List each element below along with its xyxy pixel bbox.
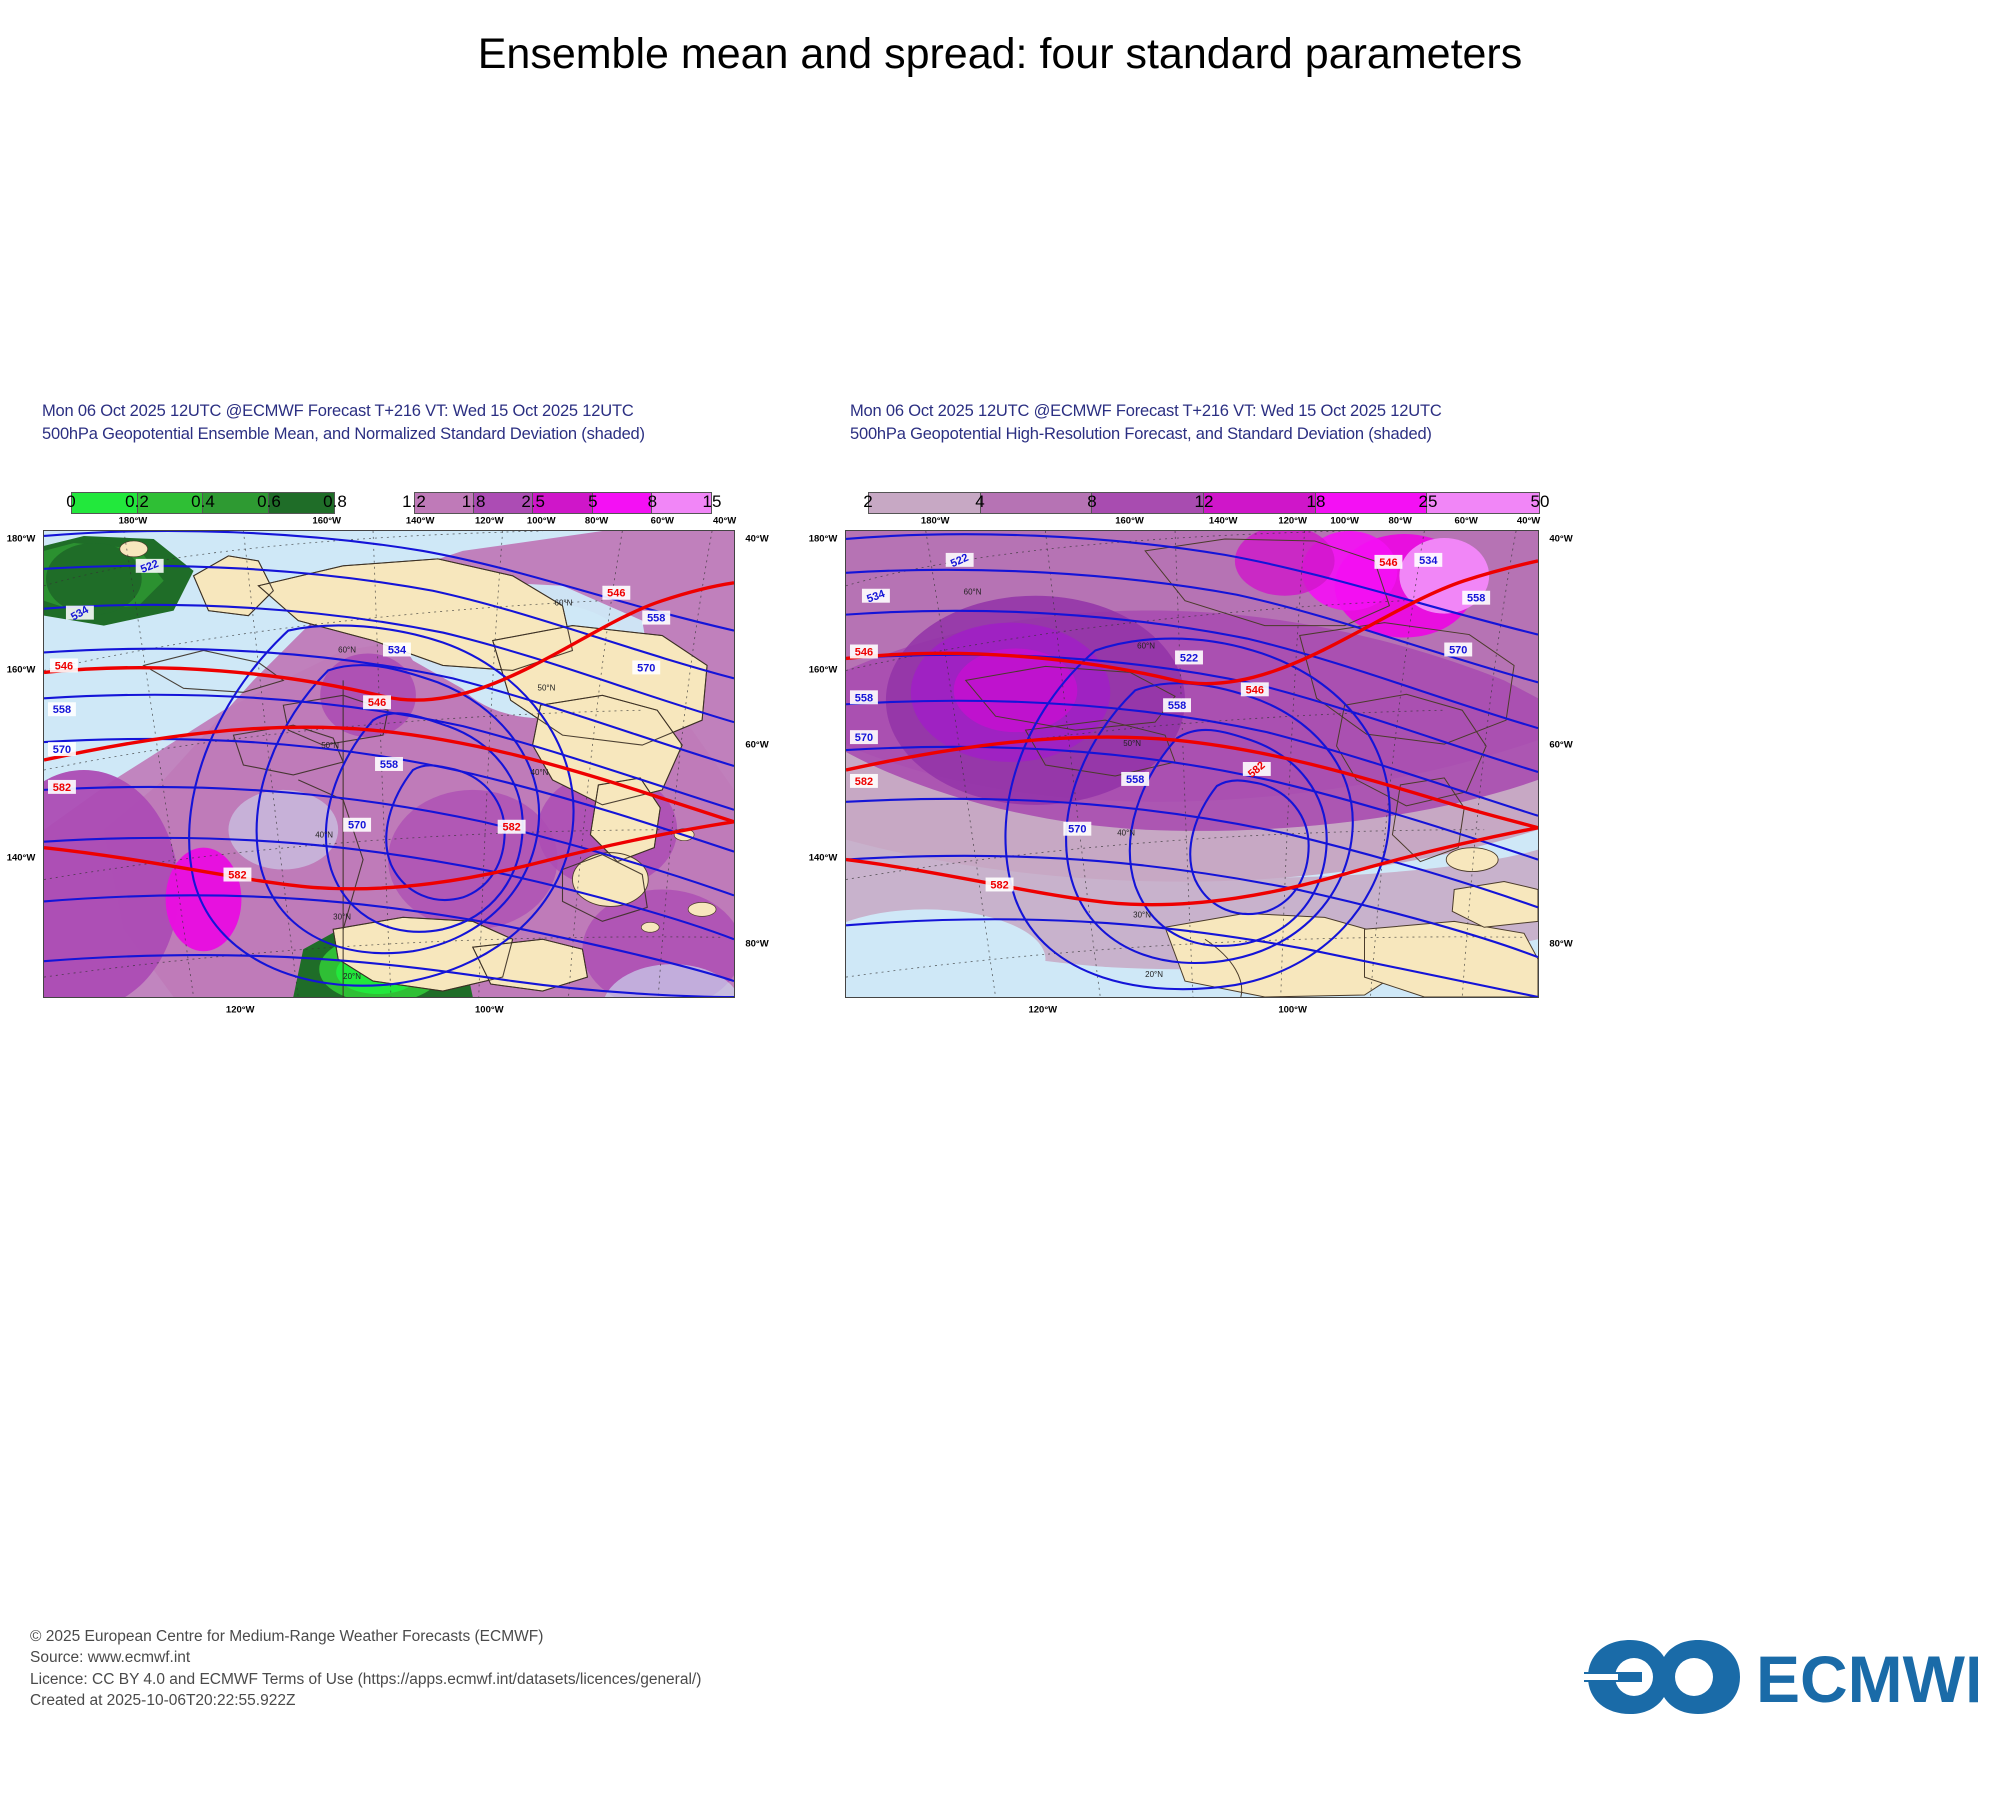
page-title: Ensemble mean and spread: four standard … xyxy=(0,30,2000,79)
svg-text:40°N: 40°N xyxy=(1117,829,1135,838)
svg-text:30°N: 30°N xyxy=(333,912,351,921)
svg-text:570: 570 xyxy=(855,732,873,744)
svg-text:30°N: 30°N xyxy=(1133,910,1151,919)
svg-text:570: 570 xyxy=(348,820,366,832)
svg-text:582: 582 xyxy=(990,879,1008,891)
svg-text:558: 558 xyxy=(1168,700,1186,712)
axis-right-label: 60°W xyxy=(1549,740,1572,751)
axis-bottom-label: 100°W xyxy=(475,1005,504,1016)
svg-text:558: 558 xyxy=(380,759,398,771)
map-left-svg: 522 534 546 558 xyxy=(44,531,734,997)
svg-text:558: 558 xyxy=(647,613,665,625)
colorbar-tick-label: 50 xyxy=(1531,492,1550,512)
svg-text:546: 546 xyxy=(1246,684,1264,696)
svg-text:582: 582 xyxy=(502,822,520,834)
svg-text:50°N: 50°N xyxy=(1123,739,1141,748)
svg-text:558: 558 xyxy=(1126,774,1144,786)
axis-top-label: 60°W xyxy=(1454,516,1477,527)
svg-text:570: 570 xyxy=(53,744,71,756)
axis-bottom-label: 120°W xyxy=(226,1005,255,1016)
svg-text:582: 582 xyxy=(855,776,873,788)
ecmwf-logo-text: ECMWF xyxy=(1756,1642,1978,1716)
axis-top-label: 140°W xyxy=(1209,516,1238,527)
colorbar-tick-label: 2 xyxy=(863,492,872,512)
axis-right-label: 40°W xyxy=(745,534,768,545)
axis-left-label: 180°W xyxy=(809,534,838,545)
colorbar-tick-label: 8 xyxy=(1087,492,1096,512)
svg-text:40°N: 40°N xyxy=(315,831,333,840)
colorbar-std-dev-shaded: 24812182550 xyxy=(0,470,2000,520)
panel-hres-forecast: Mon 06 Oct 2025 12UTC @ECMWF Forecast T+… xyxy=(850,400,1810,447)
map-right-svg: 522 534 546 558 xyxy=(846,531,1538,997)
map-ensemble-mean[interactable]: 522 534 546 558 xyxy=(43,530,735,998)
footer-licence: Licence: CC BY 4.0 and ECMWF Terms of Us… xyxy=(30,1669,701,1690)
colorbar-tick-label: 25 xyxy=(1419,492,1438,512)
svg-text:60°N: 60°N xyxy=(964,588,982,597)
panel-right-header-line1: Mon 06 Oct 2025 12UTC @ECMWF Forecast T+… xyxy=(850,400,1810,423)
axis-right-label: 80°W xyxy=(745,939,768,950)
footer-copyright: © 2025 European Centre for Medium-Range … xyxy=(30,1626,701,1647)
footer-credits: © 2025 European Centre for Medium-Range … xyxy=(30,1626,701,1712)
axis-right-label: 40°W xyxy=(1549,534,1572,545)
svg-text:570: 570 xyxy=(1068,824,1086,836)
axis-left-label: 180°W xyxy=(7,534,36,545)
ecmwf-logo: ECMWF xyxy=(1578,1632,1978,1722)
svg-text:50°N: 50°N xyxy=(321,741,339,750)
panel-left-header: Mon 06 Oct 2025 12UTC @ECMWF Forecast T+… xyxy=(42,400,962,447)
svg-text:20°N: 20°N xyxy=(343,972,361,981)
colorbar-tick-label: 18 xyxy=(1307,492,1326,512)
colorbar-tick-label: 12 xyxy=(1195,492,1214,512)
svg-text:534: 534 xyxy=(1419,555,1438,567)
svg-text:546: 546 xyxy=(55,660,73,672)
svg-text:582: 582 xyxy=(53,782,71,794)
ecmwf-logo-svg: ECMWF xyxy=(1578,1632,1978,1722)
svg-text:546: 546 xyxy=(368,697,386,709)
axis-top-label: 180°W xyxy=(921,516,950,527)
axis-left-label: 140°W xyxy=(7,852,36,863)
panel-left-header-line1: Mon 06 Oct 2025 12UTC @ECMWF Forecast T+… xyxy=(42,400,962,423)
axis-bottom-label: 120°W xyxy=(1028,1005,1057,1016)
colorbar-tick-label: 4 xyxy=(975,492,984,512)
footer-created: Created at 2025-10-06T20:22:55.922Z xyxy=(30,1690,701,1711)
map-right-inner: 522 534 546 558 xyxy=(846,531,1538,997)
axis-left-label: 160°W xyxy=(809,665,838,676)
map-hres-forecast[interactable]: 522 534 546 558 xyxy=(845,530,1539,998)
axis-left-label: 160°W xyxy=(7,665,36,676)
svg-text:546: 546 xyxy=(855,646,873,658)
svg-text:558: 558 xyxy=(855,692,873,704)
axis-top-label: 40°W xyxy=(1517,516,1540,527)
axis-bottom-label: 100°W xyxy=(1278,1005,1307,1016)
panel-right-header-line2: 500hPa Geopotential High-Resolution Fore… xyxy=(850,423,1810,446)
axis-top-label: 160°W xyxy=(1115,516,1144,527)
figure-page: Ensemble mean and spread: four standard … xyxy=(0,0,2000,1800)
map-left-inner: 522 534 546 558 xyxy=(44,531,734,997)
svg-text:40°N: 40°N xyxy=(531,768,549,777)
svg-text:546: 546 xyxy=(607,588,625,600)
svg-text:534: 534 xyxy=(388,644,407,656)
svg-text:570: 570 xyxy=(1449,644,1467,656)
svg-text:60°N: 60°N xyxy=(338,645,356,654)
axis-right-label: 60°W xyxy=(745,740,768,751)
panel-left-header-line2: 500hPa Geopotential Ensemble Mean, and N… xyxy=(42,423,962,446)
svg-text:522: 522 xyxy=(1180,652,1198,664)
svg-text:20°N: 20°N xyxy=(1145,970,1163,979)
svg-text:60°N: 60°N xyxy=(555,599,573,608)
svg-text:558: 558 xyxy=(1467,593,1485,605)
svg-text:582: 582 xyxy=(228,870,246,882)
axis-top-label: 120°W xyxy=(1278,516,1307,527)
panel-ensemble-mean: Mon 06 Oct 2025 12UTC @ECMWF Forecast T+… xyxy=(42,400,962,447)
svg-text:570: 570 xyxy=(637,662,655,674)
axis-top-label: 100°W xyxy=(1330,516,1359,527)
axis-right-label: 80°W xyxy=(1549,939,1572,950)
panel-right-header: Mon 06 Oct 2025 12UTC @ECMWF Forecast T+… xyxy=(850,400,1810,447)
footer-source: Source: www.ecmwf.int xyxy=(30,1647,701,1668)
svg-text:60°N: 60°N xyxy=(1137,642,1155,651)
axis-top-label: 80°W xyxy=(1389,516,1412,527)
svg-text:558: 558 xyxy=(53,704,71,716)
svg-text:546: 546 xyxy=(1379,557,1397,569)
axis-left-label: 140°W xyxy=(809,852,838,863)
svg-text:50°N: 50°N xyxy=(538,683,556,692)
